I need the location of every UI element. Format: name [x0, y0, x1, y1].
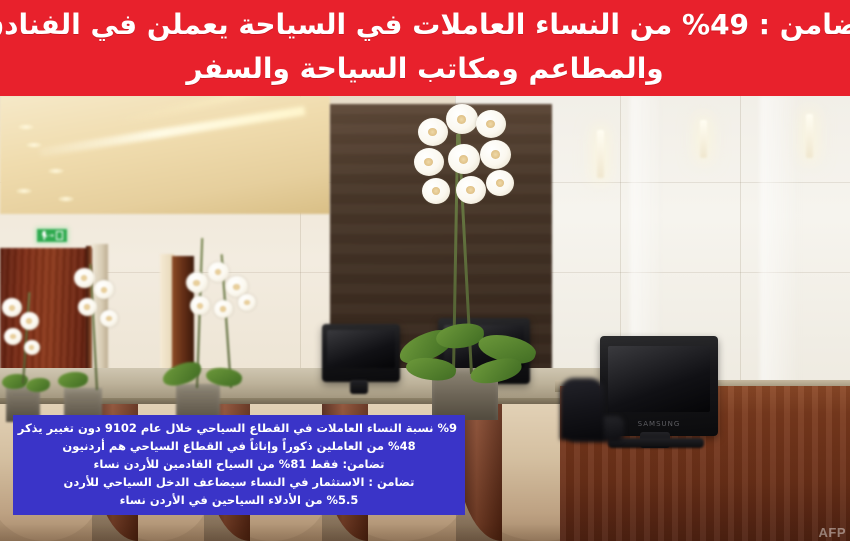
orchid-bloom: [238, 294, 256, 311]
caption-line-1: 9% نسبة النساء العاملات في القطاع السياح…: [21, 419, 457, 437]
exit-door-glyph: [56, 231, 63, 240]
orchid-bloom: [476, 110, 506, 138]
orchid-bloom: [446, 104, 478, 134]
caption-line-3: تضامن: فقط 18% من السياح القادمين للأردن…: [21, 455, 457, 473]
ceiling-downlight: [18, 124, 34, 130]
orchid-bloom: [190, 296, 210, 315]
orchid-bloom: [74, 268, 95, 288]
ceiling-downlight: [48, 168, 64, 174]
orchid-bloom: [448, 144, 480, 174]
news-photo-card: تضامن : 94% من النساء العاملات في السياح…: [0, 0, 850, 541]
caption-line-2: 84% من العاملين ذكوراً وإناثاً في القطاع…: [21, 437, 457, 455]
orchid-bloom: [78, 298, 97, 316]
caption-line-5: 5.5% من الأدلاء السياحين في الأردن نساء: [21, 491, 457, 509]
orchid-bloom: [4, 328, 22, 345]
headline-line-2: والمطاعم ومكاتب السياحة والسفر: [186, 47, 663, 91]
orchid-bloom: [418, 118, 448, 146]
caption-overlay: 9% نسبة النساء العاملات في القطاع السياح…: [13, 415, 465, 515]
orchid-bloom: [2, 298, 22, 317]
ceiling-downlight: [58, 196, 74, 202]
exit-arrow-glyph: [48, 234, 54, 237]
orchid-bloom: [480, 140, 511, 169]
exit-running-man-glyph: [42, 231, 47, 240]
ceiling-downlight: [16, 188, 32, 194]
monitor-stand: [350, 380, 368, 394]
wall-lamp: [700, 120, 707, 158]
orchid-bloom: [456, 176, 486, 204]
monitor-screen: [608, 346, 709, 412]
headline-line-1: تضامن : 94% من النساء العاملات في السياح…: [0, 2, 850, 47]
orchid-bloom: [94, 280, 114, 299]
wall-pilaster: [760, 96, 800, 396]
orchid-bloom: [214, 300, 233, 318]
orchid-bloom: [186, 272, 208, 293]
background-figure: [560, 378, 604, 440]
orchid-bloom: [208, 262, 229, 282]
monitor-screen: [327, 330, 394, 368]
wall-lamp: [806, 114, 813, 158]
monitor-base: [608, 438, 704, 448]
orchid-bloom: [20, 312, 39, 330]
orchid-bloom: [414, 148, 444, 176]
headline-banner: تضامن : 94% من النساء العاملات في السياح…: [0, 0, 850, 96]
computer-monitor: [322, 324, 400, 382]
desk-shadow: [0, 524, 600, 541]
caption-line-4: تضامن : الاستثمار في النساء سيضاعف الدخل…: [21, 473, 457, 491]
ceiling-downlight: [26, 142, 42, 148]
afp-watermark: AFP: [819, 525, 847, 540]
orchid-bloom: [100, 310, 118, 327]
emergency-exit-icon: [36, 228, 68, 243]
orchid-bloom: [486, 170, 514, 196]
wall-seam: [740, 96, 741, 396]
orchid-bloom: [422, 178, 450, 204]
orchid-bloom: [24, 340, 40, 355]
wall-lamp: [597, 130, 604, 178]
